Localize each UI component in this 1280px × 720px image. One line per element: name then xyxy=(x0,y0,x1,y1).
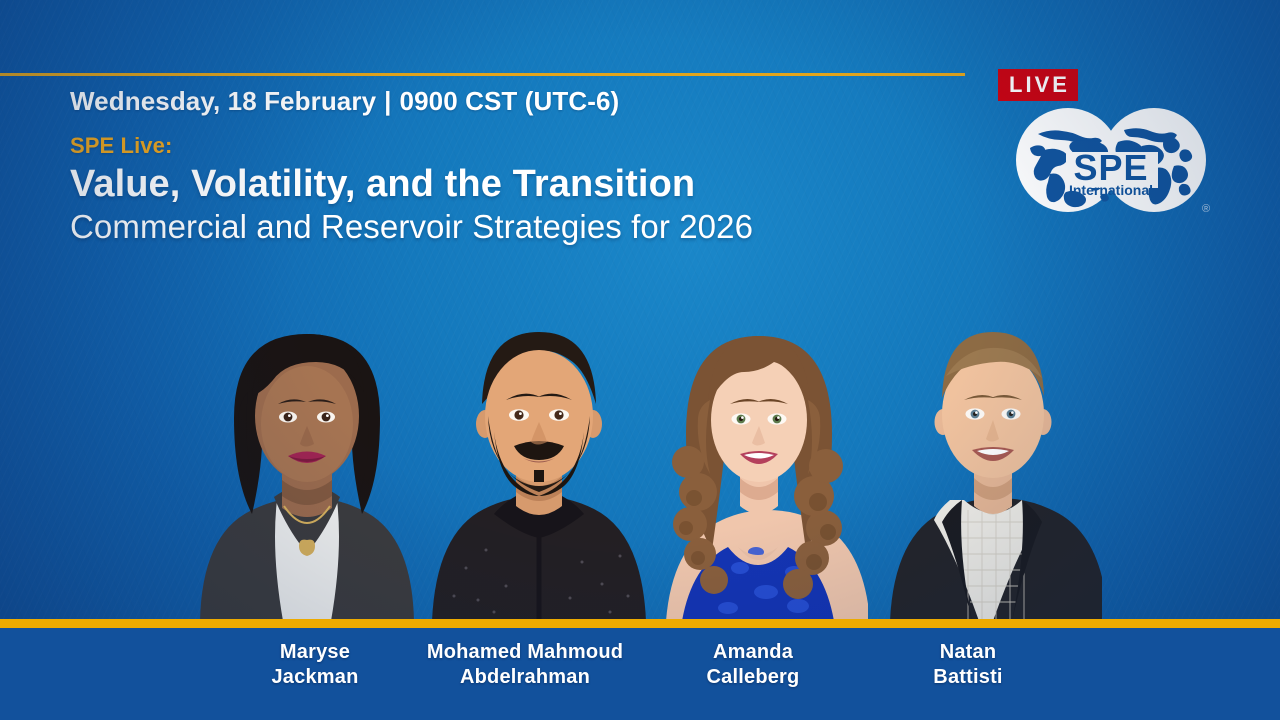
bottom-gold-bar xyxy=(0,619,1280,628)
event-datetime: Wednesday, 18 February|0900 CST (UTC-6) xyxy=(70,86,970,117)
speaker-name-list: Maryse Jackman Mohamed Mahmoud Abdelrahm… xyxy=(0,640,1280,710)
event-time: 0900 CST (UTC-6) xyxy=(400,86,620,116)
spe-international-logo: SPE International ® xyxy=(1006,106,1216,218)
svg-text:International: International xyxy=(1069,182,1153,198)
top-gold-rule xyxy=(0,73,965,76)
datetime-separator: | xyxy=(376,86,399,116)
live-badge-label: LIVE xyxy=(1006,74,1070,96)
speaker-photo-natan-battisti xyxy=(884,300,1102,621)
headline-block: Wednesday, 18 February|0900 CST (UTC-6) … xyxy=(70,86,970,246)
speaker-first-name: Natan xyxy=(818,640,1118,665)
svg-text:®: ® xyxy=(1202,203,1210,215)
speaker-last-name: Battisti xyxy=(818,665,1118,690)
series-kicker: SPE Live: xyxy=(70,133,970,159)
speaker-photo-maryse-jackman xyxy=(182,300,432,621)
event-date: Wednesday, 18 February xyxy=(70,86,376,116)
speaker-photo-mohamed-mahmoud-abdelrahman xyxy=(424,300,654,621)
speaker-photo-amanda-calleberg xyxy=(648,300,868,621)
speaker-photo-row xyxy=(0,300,1280,621)
page-title: Value, Volatility, and the Transition xyxy=(70,163,970,206)
page-subtitle: Commercial and Reservoir Strategies for … xyxy=(70,208,970,246)
spe-live-promo-slide: LIVE xyxy=(0,0,1280,720)
speaker-name: Natan Battisti xyxy=(818,640,1118,690)
live-badge: LIVE xyxy=(998,69,1078,101)
